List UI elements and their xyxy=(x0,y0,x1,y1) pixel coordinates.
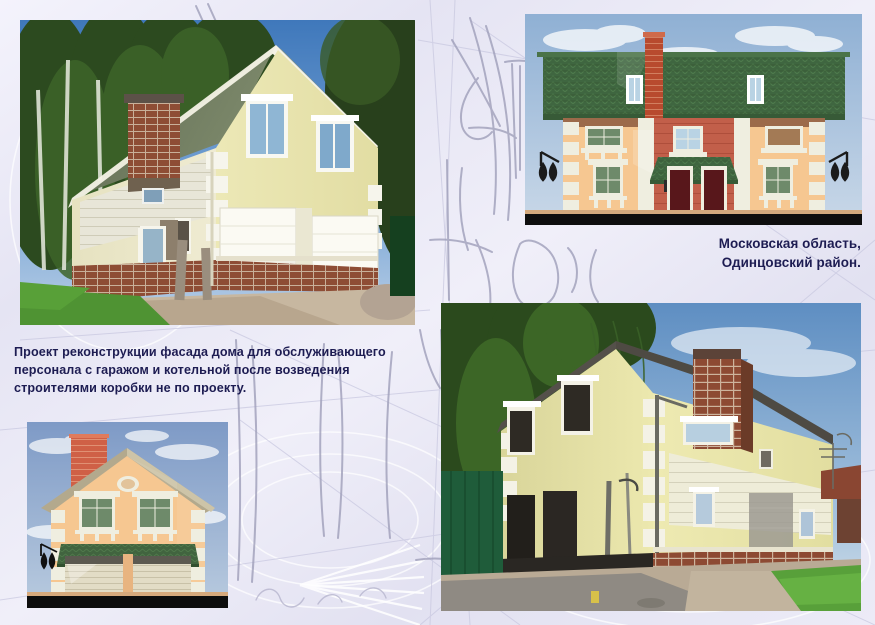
location-line-2: Одинцовский район. xyxy=(719,253,861,272)
caption-location: Московская область, Одинцовский район. xyxy=(719,234,861,273)
built-house-photo-side-corner xyxy=(441,303,861,611)
built-house-photo-front-garage xyxy=(20,20,415,325)
caption-line-3: строителями коробки не по проекту. xyxy=(14,380,414,398)
caption-project-description: Проект реконструкции фасада дома для обс… xyxy=(14,344,414,398)
slide-canvas: Проект реконструкции фасада дома для обс… xyxy=(0,0,875,625)
caption-line-1: Проект реконструкции фасада дома для обс… xyxy=(14,344,414,362)
facade-render-garage-elevation xyxy=(27,422,228,608)
facade-render-front-elevation xyxy=(525,14,862,225)
caption-line-2: персонала с гаражом и котельной после во… xyxy=(14,362,414,380)
location-line-1: Московская область, xyxy=(719,234,861,253)
